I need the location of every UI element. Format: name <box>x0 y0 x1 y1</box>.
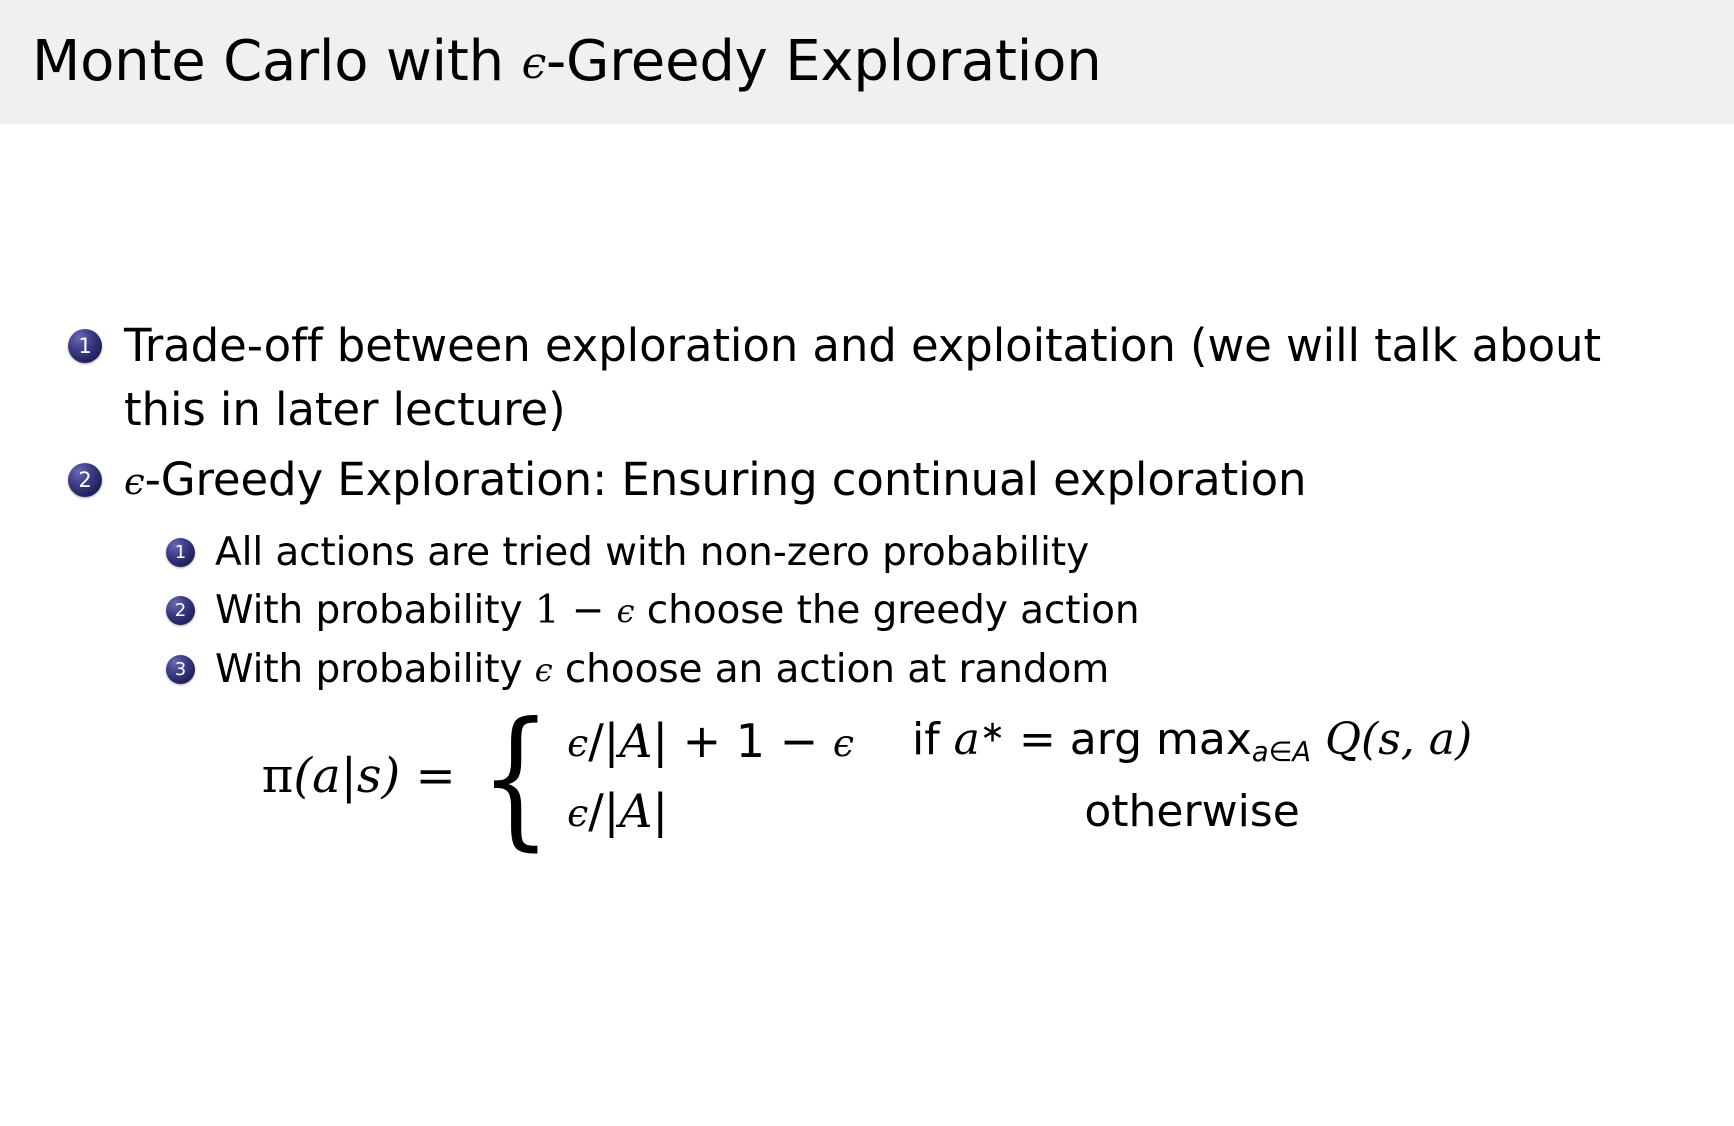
case-1-slash: /| <box>588 714 619 768</box>
sub-item-3-text: With probability ϵ choose an action at r… <box>215 643 1109 698</box>
outline-item-2-text: ϵ-Greedy Exploration: Ensuring continual… <box>124 448 1306 512</box>
equation-pi-symbol: π <box>262 748 294 804</box>
case-1-condition: if a∗ = arg maxa∈A Q(s, a) <box>912 714 1472 768</box>
title-suffix: -Greedy Exploration <box>546 29 1102 94</box>
policy-equation: π(a|s) = { ϵ/|A| + 1 − ϵ if a∗ = arg max… <box>0 714 1734 838</box>
case-1-epsilon-symbol: ϵ <box>567 721 588 765</box>
cases-grid: ϵ/|A| + 1 − ϵ if a∗ = arg maxa∈A Q(s, a)… <box>567 714 1472 838</box>
case-1-value: ϵ/|A| + 1 − ϵ <box>567 714 854 768</box>
case-1-action-set: A <box>619 714 652 768</box>
case-1-star: ∗ <box>980 715 1005 750</box>
list-item: 2 ϵ-Greedy Exploration: Ensuring continu… <box>68 448 1688 512</box>
sub-item-2-suffix: choose the greedy action <box>634 588 1139 633</box>
case-1-if: if <box>912 714 954 765</box>
sub-outline-list: 1 All actions are tried with non-zero pr… <box>166 526 1688 698</box>
numbered-subbullet-2-icon: 2 <box>166 596 195 625</box>
case-1-qvalue: Q(s, a) <box>1311 714 1472 765</box>
numbered-bullet-1-icon: 1 <box>68 329 102 363</box>
case-1-epsilon-symbol-2: ϵ <box>833 721 854 765</box>
sub-item-3-epsilon-symbol: ϵ <box>535 651 553 689</box>
sub-item-2-text: With probability 1 − ϵ choose the greedy… <box>215 584 1140 639</box>
case-2-value: ϵ/|A| <box>567 784 854 838</box>
case-1-argmax: = arg max <box>1005 714 1252 765</box>
slide-body: 1 Trade-off between exploration and expl… <box>0 124 1734 1126</box>
page-title: Monte Carlo with ϵ-Greedy Exploration <box>0 33 1102 92</box>
slide-header: Monte Carlo with ϵ-Greedy Exploration <box>0 0 1734 124</box>
outline-item-1-text: Trade-off between exploration and exploi… <box>124 314 1601 442</box>
title-epsilon-symbol: ϵ <box>522 38 546 89</box>
equation-inner: π(a|s) = { ϵ/|A| + 1 − ϵ if a∗ = arg max… <box>262 714 1472 838</box>
case-1-plus-one-minus: + 1 − <box>668 714 833 768</box>
equation-lhs-args: (a|s) = <box>293 748 455 804</box>
numbered-subbullet-1-icon: 1 <box>166 538 195 567</box>
outline-list: 1 Trade-off between exploration and expl… <box>68 314 1688 701</box>
equation-lhs: π(a|s) = <box>262 748 468 804</box>
list-item: 2 With probability 1 − ϵ choose the gree… <box>166 584 1688 639</box>
sub-item-2-one: 1 <box>535 588 560 633</box>
numbered-subbullet-3-icon: 3 <box>166 655 195 684</box>
case-2-condition: otherwise <box>912 786 1472 837</box>
case-1-subscript: a∈A <box>1252 737 1311 768</box>
cases-brace-icon: { <box>480 724 552 832</box>
title-prefix: Monte Carlo with <box>32 29 522 94</box>
sub-item-3-prefix: With probability <box>215 647 535 692</box>
outline-item-1-line2: this in later lecture) <box>124 378 1601 442</box>
sub-item-2-epsilon-symbol: ϵ <box>617 592 635 630</box>
case-2-bar: | <box>653 784 669 838</box>
sub-item-2-prefix: With probability <box>215 588 535 633</box>
sub-item-3-suffix: choose an action at random <box>553 647 1110 692</box>
case-2-slash: /| <box>588 784 619 838</box>
beamer-slide: Monte Carlo with ϵ-Greedy Exploration 1 … <box>0 0 1734 1126</box>
list-item: 1 All actions are tried with non-zero pr… <box>166 526 1688 581</box>
list-item: 3 With probability ϵ choose an action at… <box>166 643 1688 698</box>
case-1-a: a <box>954 714 980 765</box>
case-2-epsilon-symbol: ϵ <box>567 791 588 835</box>
sub-item-2-minus: − <box>559 588 616 633</box>
case-2-action-set: A <box>619 784 652 838</box>
sub-item-1-text: All actions are tried with non-zero prob… <box>215 526 1089 581</box>
outline-item-2-epsilon-symbol: ϵ <box>124 460 145 503</box>
list-item: 1 Trade-off between exploration and expl… <box>68 314 1688 442</box>
case-1-bar: | <box>653 714 669 768</box>
outline-item-1-line1: Trade-off between exploration and exploi… <box>124 319 1601 372</box>
outline-item-2-label: -Greedy Exploration: Ensuring continual … <box>145 453 1307 506</box>
numbered-bullet-2-icon: 2 <box>68 463 102 497</box>
